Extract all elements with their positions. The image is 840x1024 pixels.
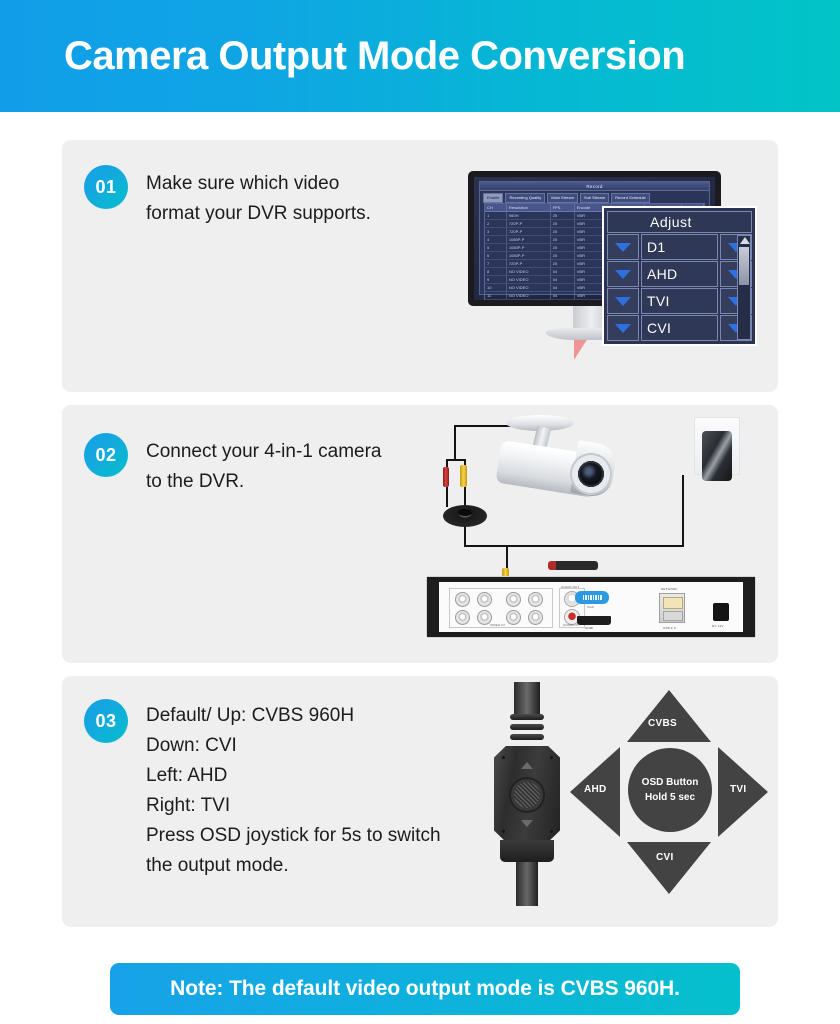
table-cell: 720P-P [507, 228, 551, 235]
usb-jack[interactable] [663, 611, 683, 621]
housing-screw-bl [502, 830, 505, 833]
hdmi-label: HDMI [585, 626, 593, 630]
vga-port[interactable] [575, 591, 609, 604]
cable-left-down [454, 425, 456, 459]
joystick-cable-upper [514, 682, 540, 718]
housing-screw-br [550, 830, 553, 833]
direction-up-triangle [627, 690, 711, 742]
step-text-3: Default/ Up: CVBS 960H Down: CVI Left: A… [146, 701, 446, 881]
audio-out-label: AUDIO OUT [561, 585, 579, 589]
table-cell: 25 [551, 212, 575, 219]
joystick-cable-lower [516, 862, 538, 906]
step-number-badge-3: 03 [84, 699, 128, 743]
video-in-label: VIDEO IN [490, 623, 505, 627]
table-cell: 04 [551, 268, 575, 275]
adjust-option-tvi[interactable]: TVI [641, 288, 718, 314]
dc-power-port[interactable] [713, 603, 729, 621]
step-text-2: Connect your 4-in-1 camera to the DVR. [146, 437, 396, 497]
dc-barrel-plug [548, 561, 598, 570]
step-text-1: Make sure which video format your DVR su… [146, 169, 376, 229]
col-ch: CH [485, 204, 507, 211]
note-text: Note: The default video output mode is C… [170, 977, 680, 1001]
table-cell: 04 [551, 284, 575, 291]
page-title: Camera Output Mode Conversion [0, 34, 685, 79]
usb-label: USB 2.0 [663, 626, 676, 630]
scrollbar-thumb[interactable] [739, 247, 749, 285]
cable-strain-relief-3 [510, 734, 544, 740]
table-cell: 7 [485, 260, 507, 267]
dvr-tab-bar: Enable Recording Quality Main Stream Sub… [483, 193, 706, 202]
chevron-down-icon [615, 297, 631, 306]
adjust-option-d1[interactable]: D1 [641, 234, 718, 260]
power-adapter [702, 431, 732, 481]
vga-pins [583, 595, 602, 600]
table-cell: 25 [551, 220, 575, 227]
camera-lens [580, 463, 602, 485]
table-cell: 10 [485, 284, 507, 291]
cable-strain-relief-2 [510, 724, 544, 730]
table-cell: 960H [507, 212, 551, 219]
adjust-panel-scrollbar[interactable] [737, 235, 751, 340]
table-cell: 1080P-P [507, 244, 551, 251]
dvr-top-edge [439, 577, 743, 582]
direction-left-label: AHD [584, 784, 607, 795]
dvr-tab-sub-stream[interactable]: Sub Stream [580, 193, 609, 203]
housing-screw-tl [502, 756, 505, 759]
dvr-tab-main-stream[interactable]: Main Stream [547, 193, 578, 203]
dvr-left-bracket [427, 577, 439, 637]
direction-down-triangle [627, 842, 711, 894]
bnc-connector-yellow [460, 465, 467, 487]
adjust-row-d1[interactable]: D1 [607, 234, 752, 260]
network-rj45-port[interactable] [659, 593, 685, 623]
bnc-port-1[interactable] [455, 592, 470, 607]
adjust-row-ahd[interactable]: AHD [607, 261, 752, 287]
joystick-illustration: CVBS AHD TVI CVI OSD Button Hold 5 sec [432, 682, 768, 912]
table-cell: 5 [485, 244, 507, 251]
osd-button-center: OSD Button Hold 5 sec [628, 748, 712, 832]
table-cell: 4 [485, 236, 507, 243]
infographic-page: Camera Output Mode Conversion 01 Make su… [0, 0, 840, 1024]
cable-adapter-down [682, 475, 684, 547]
direction-down-label: CVI [656, 852, 674, 863]
step-number-badge-1: 01 [84, 165, 128, 209]
table-cell: 3 [485, 228, 507, 235]
cable-coil-hole [458, 509, 472, 516]
page-header: Camera Output Mode Conversion [0, 0, 840, 112]
table-cell: NO VIDEO [507, 276, 551, 283]
table-cell: 25 [551, 244, 575, 251]
table-cell: 04 [551, 292, 575, 299]
bnc-port-5[interactable] [455, 610, 470, 625]
table-cell: 8 [485, 268, 507, 275]
dvr-tab-record-schedule[interactable]: Record Schedule [611, 193, 650, 203]
bnc-port-7[interactable] [506, 610, 521, 625]
cable-strain-relief-1 [510, 714, 544, 720]
adjust-panel-title: Adjust [607, 211, 752, 233]
monitor-illustration: Record Enable Recording Quality Main Str… [406, 150, 778, 385]
cable-bottom-run [464, 545, 684, 547]
osd-center-line2: Hold 5 sec [645, 790, 695, 805]
power-label: DC 12V [712, 624, 724, 628]
dvr-tab-enable[interactable]: Enable [483, 193, 503, 203]
adjust-row-cvi[interactable]: CVI [607, 315, 752, 341]
chevron-down-icon [615, 324, 631, 333]
dvr-window-titlebar: Record [480, 182, 709, 191]
osd-joystick-button[interactable] [514, 782, 540, 808]
network-label: NETWORK [661, 587, 678, 591]
adjust-left-dropdown-tvi[interactable] [607, 288, 639, 314]
adjust-left-dropdown-d1[interactable] [607, 234, 639, 260]
bnc-port-4[interactable] [528, 592, 543, 607]
step-card-3: 03 Default/ Up: CVBS 960H Down: CVI Left… [62, 676, 778, 927]
bnc-port-8[interactable] [528, 610, 543, 625]
table-cell: 2 [485, 220, 507, 227]
housing-screw-tr [550, 756, 553, 759]
step-number-badge-2: 02 [84, 433, 128, 477]
camera-dvr-illustration: VIDEO IN AUDIO OUT AUDIO IN VGA HDMI [402, 413, 778, 658]
video-in-port-group: VIDEO IN [449, 588, 553, 628]
table-cell: 1080P-P [507, 236, 551, 243]
adjust-left-dropdown-cvi[interactable] [607, 315, 639, 341]
dc-connector-red [443, 467, 449, 487]
vga-label: VGA [587, 605, 594, 609]
table-cell: 04 [551, 276, 575, 283]
adjust-option-ahd[interactable]: AHD [641, 261, 718, 287]
dvr-rear-panel: VIDEO IN AUDIO OUT AUDIO IN VGA HDMI [426, 576, 756, 638]
table-cell: 25 [551, 260, 575, 267]
table-cell: 1080P-P [507, 252, 551, 259]
dvr-bottom-edge [439, 632, 743, 637]
bnc-port-3[interactable] [506, 592, 521, 607]
table-cell: 25 [551, 236, 575, 243]
joystick-housing-foot [500, 840, 554, 862]
table-cell: 720P-P [507, 260, 551, 267]
table-cell: 9 [485, 276, 507, 283]
cable-ring-out [464, 525, 466, 547]
table-cell: 25 [551, 252, 575, 259]
bnc-port-2[interactable] [477, 592, 492, 607]
output-mode-diamond-diagram: CVBS AHD TVI CVI OSD Button Hold 5 sec [570, 690, 768, 894]
col-resolution: Resolution [507, 204, 551, 211]
table-cell: NO VIDEO [507, 292, 551, 299]
table-cell: 11 [485, 292, 507, 299]
dvr-window-title: Record [586, 184, 602, 189]
table-cell: 720P-P [507, 220, 551, 227]
osd-center-line1: OSD Button [642, 775, 699, 790]
note-banner: Note: The default video output mode is C… [110, 963, 740, 1015]
hdmi-port[interactable] [577, 616, 611, 625]
rj45-jack[interactable] [663, 597, 683, 609]
table-cell: 25 [551, 228, 575, 235]
table-cell: NO VIDEO [507, 268, 551, 275]
chevron-down-icon [615, 243, 631, 252]
direction-up-label: CVBS [648, 718, 677, 729]
step-card-1: 01 Make sure which video format your DVR… [62, 140, 778, 392]
joystick-down-arrow-icon [521, 820, 533, 827]
audio-in-label: AUDIO IN [563, 623, 578, 627]
adjust-zoom-panel: Adjust D1 AHD [602, 206, 757, 346]
col-fps: FPS [551, 204, 575, 211]
cable-split [446, 459, 466, 461]
adjust-left-dropdown-ahd[interactable] [607, 261, 639, 287]
table-cell: NO VIDEO [507, 284, 551, 291]
scroll-up-arrow-icon[interactable] [740, 237, 750, 244]
table-cell: 1 [485, 212, 507, 219]
direction-right-label: TVI [730, 784, 746, 795]
adjust-option-cvi[interactable]: CVI [641, 315, 718, 341]
joystick-up-arrow-icon [521, 762, 533, 769]
adjust-row-tvi[interactable]: TVI [607, 288, 752, 314]
table-cell: 6 [485, 252, 507, 259]
step-card-2: 02 Connect your 4-in-1 camera to the DVR… [62, 405, 778, 663]
dvr-tab-recording-quality[interactable]: Recording Quality [505, 193, 545, 203]
chevron-down-icon [615, 270, 631, 279]
dvr-right-bracket [743, 577, 755, 637]
